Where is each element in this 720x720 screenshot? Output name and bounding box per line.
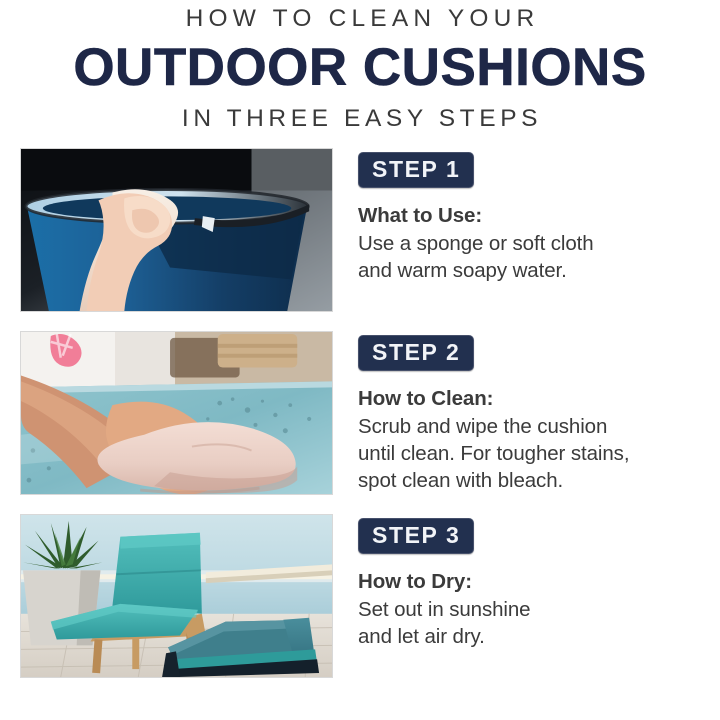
step-body-line: Scrub and wipe the cushion	[358, 413, 720, 440]
step-text-block: STEP 1 What to Use: Use a sponge or soft…	[358, 148, 720, 284]
step-heading: How to Clean:	[358, 386, 720, 412]
infographic-header: HOW TO CLEAN YOUR OUTDOOR CUSHIONS IN TH…	[0, 0, 720, 134]
step-body-line: Use a sponge or soft cloth	[358, 230, 720, 257]
page-title: OUTDOOR CUSHIONS	[0, 38, 720, 98]
step-row: STEP 2 How to Clean: Scrub and wipe the …	[0, 331, 720, 495]
step-row: STEP 1 What to Use: Use a sponge or soft…	[0, 148, 720, 312]
header-subkicker: IN THREE EASY STEPS	[0, 104, 720, 134]
step-body: Use a sponge or soft cloth and warm soap…	[358, 230, 720, 284]
step-heading: What to Use:	[358, 203, 720, 229]
step-body-line: spot clean with bleach.	[358, 467, 720, 494]
step-badge: STEP 1	[358, 152, 474, 188]
step-body-line: and let air dry.	[358, 623, 720, 650]
step-row: STEP 3 How to Dry: Set out in sunshine a…	[0, 514, 720, 678]
photo-lounge-chairs-drying	[20, 514, 333, 678]
step-body-line: Set out in sunshine	[358, 596, 720, 623]
step-badge: STEP 2	[358, 335, 474, 371]
step-body-line: and warm soapy water.	[358, 257, 720, 284]
step-text-block: STEP 3 How to Dry: Set out in sunshine a…	[358, 514, 720, 650]
photo-bucket-and-cloth	[20, 148, 333, 312]
step-text-block: STEP 2 How to Clean: Scrub and wipe the …	[358, 331, 720, 494]
header-kicker: HOW TO CLEAN YOUR	[0, 4, 720, 34]
step-body-line: until clean. For tougher stains,	[358, 440, 720, 467]
step-body: Set out in sunshine and let air dry.	[358, 596, 720, 650]
photo-scrubbing-cushion	[20, 331, 333, 495]
step-body: Scrub and wipe the cushion until clean. …	[358, 413, 720, 494]
step-heading: How to Dry:	[358, 569, 720, 595]
steps-list: STEP 1 What to Use: Use a sponge or soft…	[0, 148, 720, 678]
step-badge: STEP 3	[358, 518, 474, 554]
